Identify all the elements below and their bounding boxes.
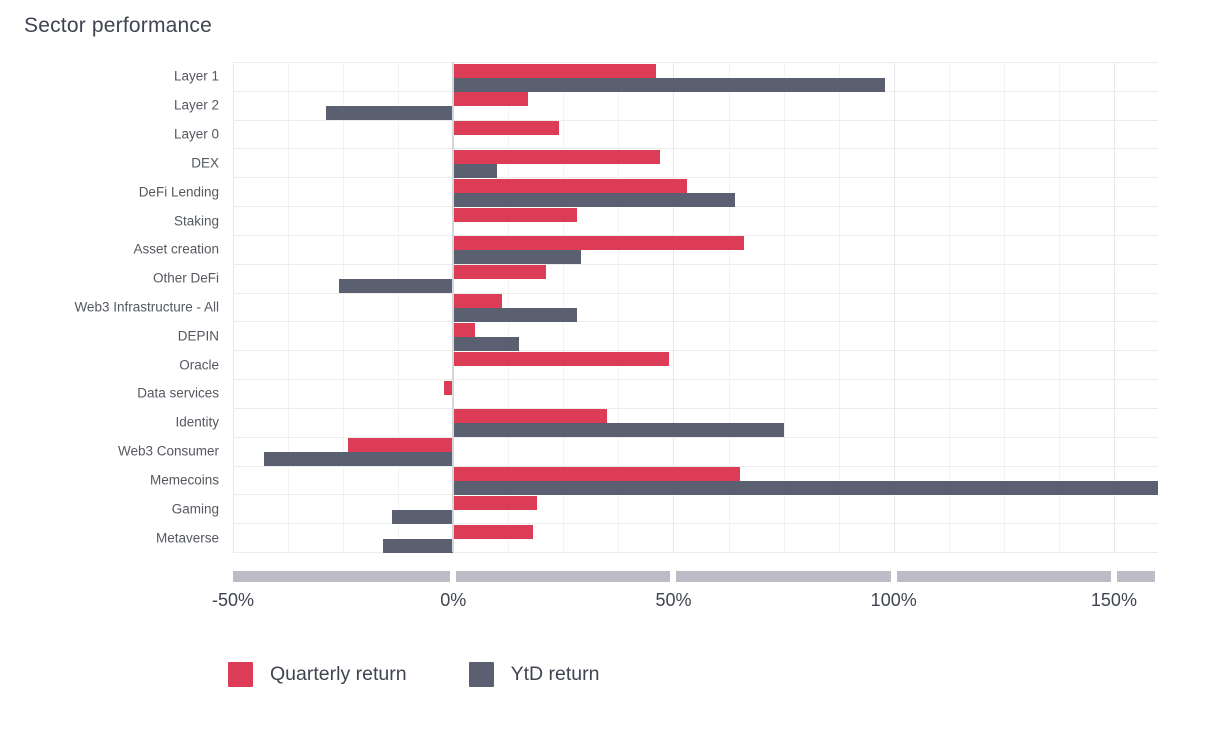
- x-axis-segment[interactable]: [456, 571, 670, 582]
- bar-ytd-return[interactable]: [383, 539, 453, 553]
- category-label: Memecoins: [150, 473, 219, 487]
- category-label: DEX: [191, 156, 219, 170]
- category-label: DeFi Lending: [139, 185, 219, 199]
- category-label: Identity: [175, 416, 219, 430]
- bar-group: [233, 494, 1158, 523]
- bar-ytd-return[interactable]: [453, 250, 581, 264]
- category-label: Asset creation: [133, 243, 219, 257]
- bar-group: [233, 148, 1158, 177]
- category-label: Metaverse: [156, 531, 219, 545]
- x-axis-tick-label: -50%: [212, 590, 254, 611]
- bar-ytd-return[interactable]: [392, 510, 454, 524]
- legend-item-quarterly-return[interactable]: Quarterly return: [228, 662, 407, 687]
- legend-item-label: YtD return: [511, 663, 600, 686]
- page-title: Sector performance: [24, 14, 212, 38]
- bar-group: [233, 177, 1158, 206]
- bar-quarterly-return[interactable]: [453, 208, 576, 222]
- bar-group: [233, 62, 1158, 91]
- bar-ytd-return[interactable]: [326, 106, 454, 120]
- category-label: Staking: [174, 214, 219, 228]
- x-axis-tick-label: 0%: [440, 590, 466, 611]
- x-axis-segment[interactable]: [897, 571, 1111, 582]
- bar-ytd-return[interactable]: [453, 481, 1158, 495]
- bar-group: [233, 206, 1158, 235]
- category-label: Other DeFi: [153, 271, 219, 285]
- bar-ytd-return[interactable]: [264, 452, 453, 466]
- bar-ytd-return[interactable]: [339, 279, 454, 293]
- bar-quarterly-return[interactable]: [453, 265, 546, 279]
- zero-baseline: [452, 62, 454, 552]
- bar-group: [233, 437, 1158, 466]
- category-label: Gaming: [172, 502, 219, 516]
- bars-layer: [233, 62, 1158, 552]
- x-axis-tick-label: 50%: [655, 590, 691, 611]
- bar-group: [233, 408, 1158, 437]
- legend-item-ytd-return[interactable]: YtD return: [469, 662, 600, 687]
- category-label: Layer 1: [174, 70, 219, 84]
- bar-group: [233, 379, 1158, 408]
- category-label: DEPIN: [178, 329, 219, 343]
- category-label: Web3 Consumer: [118, 444, 219, 458]
- category-label: Oracle: [179, 358, 219, 372]
- bar-quarterly-return[interactable]: [453, 179, 686, 193]
- bar-ytd-return[interactable]: [453, 337, 519, 351]
- ytd-return-swatch: [469, 662, 494, 687]
- bar-quarterly-return[interactable]: [453, 525, 532, 539]
- bar-group: [233, 350, 1158, 379]
- legend: Quarterly return YtD return: [228, 662, 599, 687]
- bar-group: [233, 293, 1158, 322]
- x-axis-tick-label: 100%: [871, 590, 917, 611]
- legend-item-label: Quarterly return: [270, 663, 407, 686]
- bar-ytd-return[interactable]: [453, 78, 885, 92]
- bar-group: [233, 91, 1158, 120]
- x-axis-segment[interactable]: [1117, 571, 1155, 582]
- x-axis-segment[interactable]: [233, 571, 450, 582]
- bar-group: [233, 321, 1158, 350]
- bar-quarterly-return[interactable]: [453, 294, 501, 308]
- bar-quarterly-return[interactable]: [348, 438, 454, 452]
- category-label: Web3 Infrastructure - All: [74, 300, 219, 314]
- x-axis-segment[interactable]: [676, 571, 890, 582]
- bar-quarterly-return[interactable]: [453, 150, 660, 164]
- quarterly-return-swatch: [228, 662, 253, 687]
- bar-ytd-return[interactable]: [453, 423, 783, 437]
- x-axis-tick-labels: -50%0%50%100%150%: [233, 590, 1158, 618]
- bar-group: [233, 466, 1158, 495]
- bar-ytd-return[interactable]: [453, 308, 576, 322]
- category-label: Data services: [137, 387, 219, 401]
- row-separator: [233, 552, 1158, 553]
- bar-quarterly-return[interactable]: [453, 496, 537, 510]
- bar-group: [233, 235, 1158, 264]
- bar-group: [233, 120, 1158, 149]
- bar-group: [233, 264, 1158, 293]
- bar-quarterly-return[interactable]: [453, 467, 739, 481]
- bar-ytd-return[interactable]: [453, 193, 735, 207]
- plot-area: [233, 62, 1158, 552]
- category-label: Layer 2: [174, 98, 219, 112]
- bar-quarterly-return[interactable]: [453, 236, 744, 250]
- bar-quarterly-return[interactable]: [453, 323, 475, 337]
- bar-group: [233, 523, 1158, 552]
- category-label: Layer 0: [174, 127, 219, 141]
- bar-ytd-return[interactable]: [453, 164, 497, 178]
- x-axis-scrollbar[interactable]: [233, 571, 1158, 582]
- bar-quarterly-return[interactable]: [453, 352, 669, 366]
- bar-quarterly-return[interactable]: [453, 64, 656, 78]
- bar-quarterly-return[interactable]: [453, 92, 528, 106]
- bar-quarterly-return[interactable]: [453, 409, 607, 423]
- category-axis-labels: Layer 1Layer 2Layer 0DEXDeFi LendingStak…: [0, 62, 219, 552]
- bar-quarterly-return[interactable]: [453, 121, 559, 135]
- x-axis-tick-label: 150%: [1091, 590, 1137, 611]
